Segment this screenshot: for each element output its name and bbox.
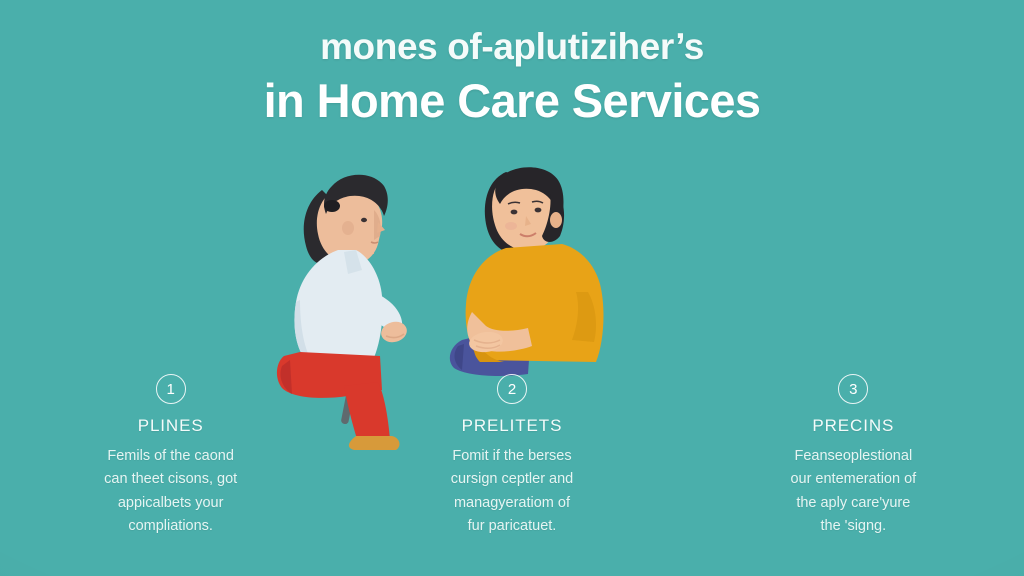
step-column-3: 3 PRECINS Feanseoplestional our entemera… — [683, 374, 1024, 574]
step-number-badge-1: 1 — [156, 374, 186, 404]
title-line-1: mones of-aplutiziher’s — [0, 26, 1024, 69]
steps-row: 1 PLINES Femils of the caond can theet c… — [0, 374, 1024, 574]
step-heading-3: PRECINS — [701, 416, 1006, 436]
step-body-3: Feanseoplestional our entemeration of th… — [701, 445, 1006, 539]
step-column-1: 1 PLINES Femils of the caond can theet c… — [0, 374, 341, 574]
step-body-1: Femils of the caond can theet cisons, go… — [18, 445, 323, 539]
title-line-2: in Home Care Services — [0, 73, 1024, 129]
step-heading-1: PLINES — [18, 416, 323, 436]
step-column-2: 2 PRELITETS Fomit if the berses cursign … — [341, 374, 682, 574]
page-title: mones of-aplutiziher’s in Home Care Serv… — [0, 26, 1024, 129]
step-body-2: Fomit if the berses cursign ceptler and … — [359, 445, 664, 539]
step-number-badge-3: 3 — [838, 374, 868, 404]
infographic-canvas: mones of-aplutiziher’s in Home Care Serv… — [0, 0, 1024, 576]
step-heading-2: PRELITETS — [359, 416, 664, 436]
seated-woman-yellow-shirt-figure — [450, 167, 604, 376]
step-number-badge-2: 2 — [497, 374, 527, 404]
